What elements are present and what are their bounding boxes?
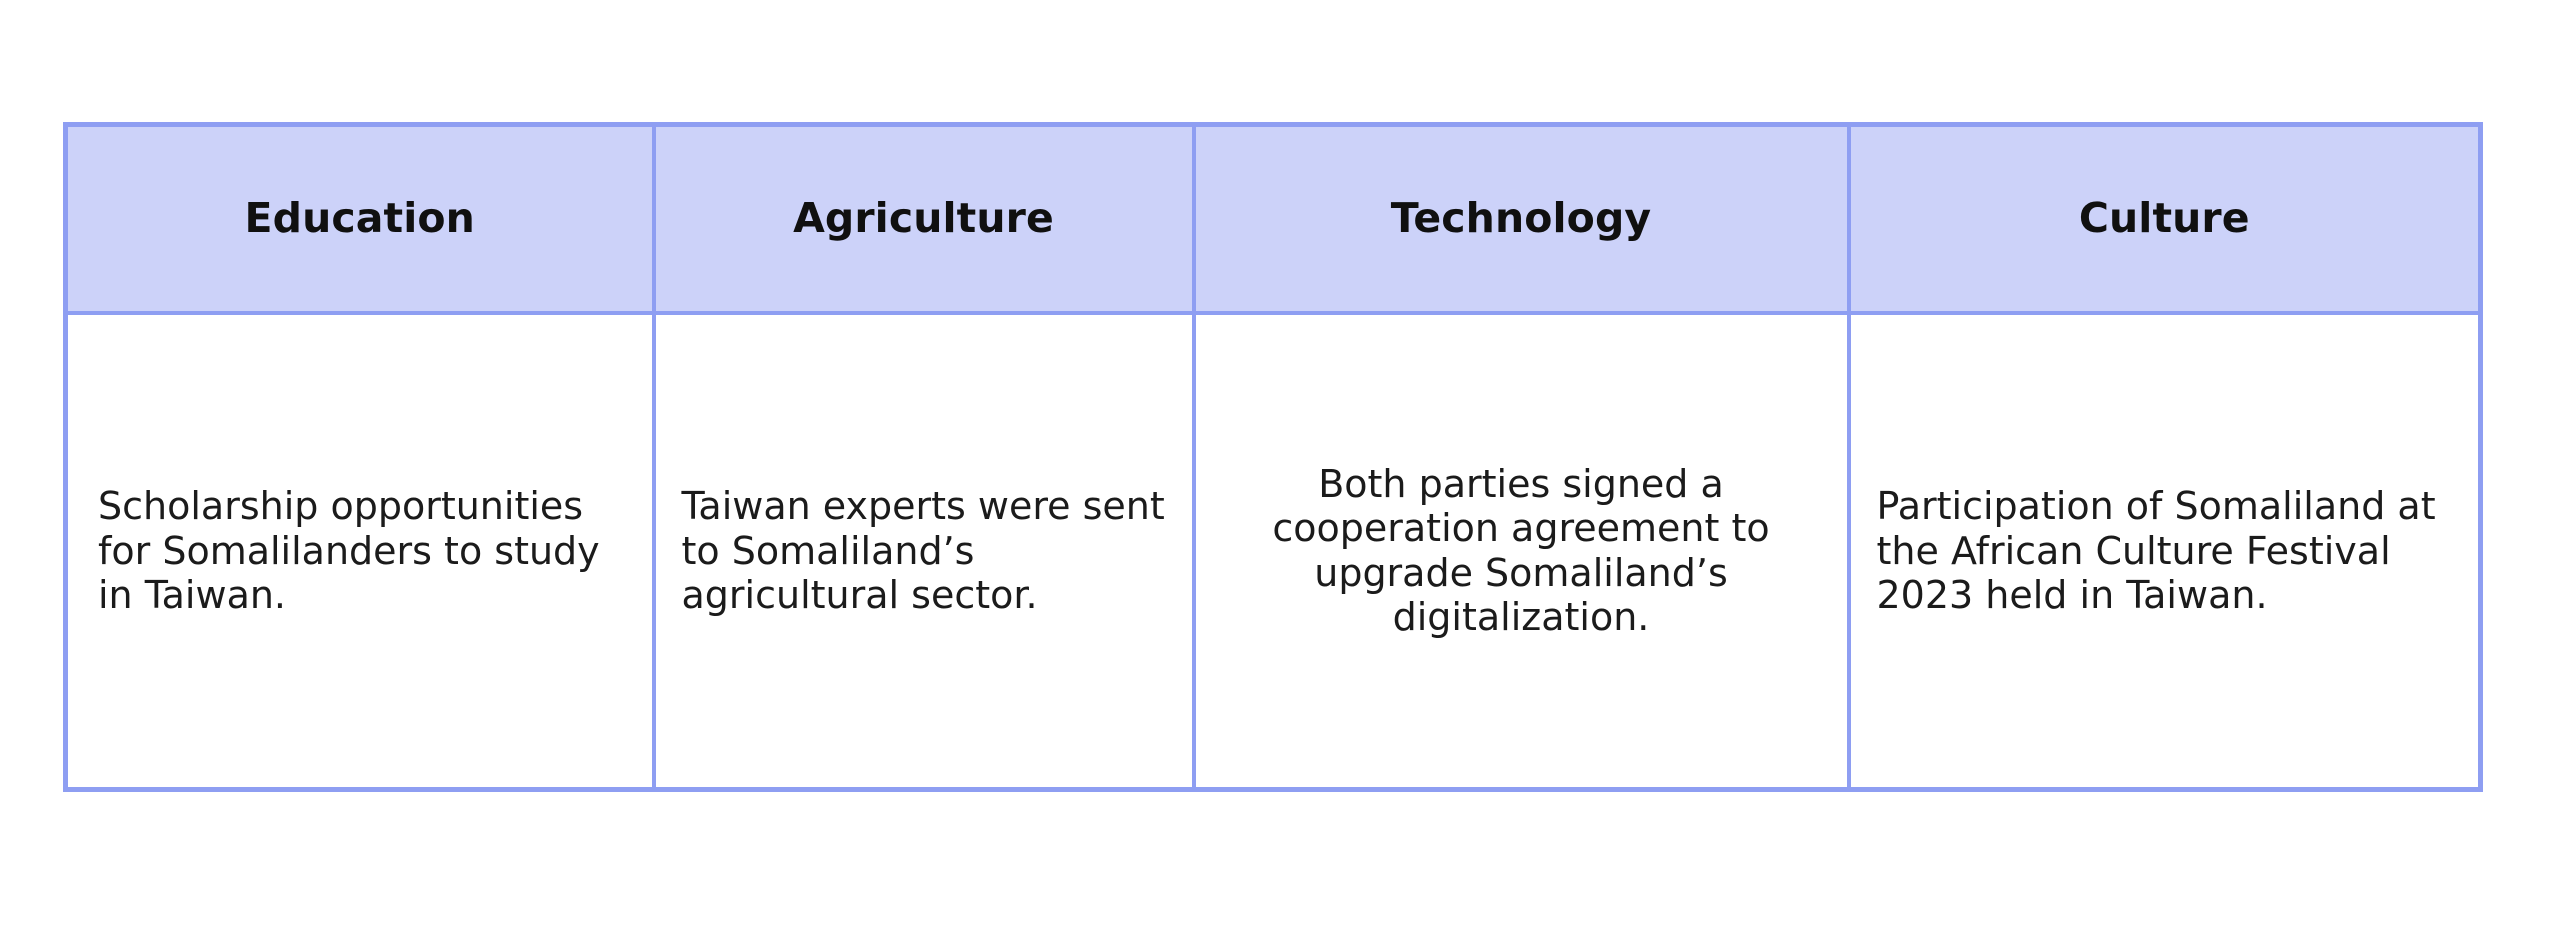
cell-agriculture: Taiwan experts were sent to Somaliland’s…	[654, 313, 1194, 790]
cell-technology: Both parties signed a cooperation agreem…	[1194, 313, 1849, 790]
cooperation-table-container: Education Agriculture Technology Culture…	[63, 122, 2478, 787]
table-row: Scholarship opportunities for Somaliland…	[66, 313, 2481, 790]
column-header-education: Education	[66, 125, 654, 313]
table-header: Education Agriculture Technology Culture	[66, 125, 2481, 313]
cell-technology-text: Both parties signed a cooperation agreem…	[1196, 462, 1847, 640]
cell-culture-text: Participation of Somaliland at the Afric…	[1851, 484, 2479, 617]
cell-agriculture-text: Taiwan experts were sent to Somaliland’s…	[656, 484, 1192, 617]
table-header-row: Education Agriculture Technology Culture	[66, 125, 2481, 313]
column-header-technology: Technology	[1194, 125, 1849, 313]
cooperation-areas-table: Education Agriculture Technology Culture…	[63, 122, 2483, 792]
column-header-agriculture: Agriculture	[654, 125, 1194, 313]
cell-culture: Participation of Somaliland at the Afric…	[1849, 313, 2481, 790]
cell-education-text: Scholarship opportunities for Somaliland…	[68, 484, 652, 617]
table-body: Scholarship opportunities for Somaliland…	[66, 313, 2481, 790]
cell-education: Scholarship opportunities for Somaliland…	[66, 313, 654, 790]
column-header-culture: Culture	[1849, 125, 2481, 313]
